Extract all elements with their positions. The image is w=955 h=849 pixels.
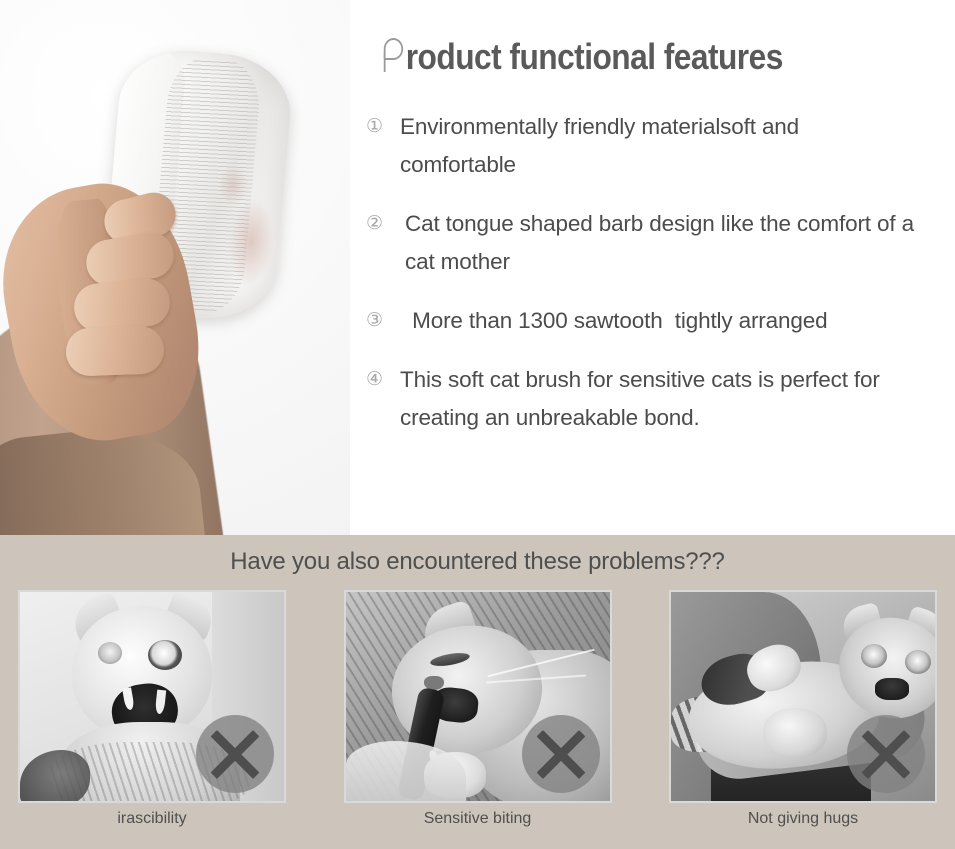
x-mark-icon-2: [522, 715, 600, 793]
problem-card-1: irascibility: [18, 590, 286, 828]
feature-item-2: ② Cat tongue shaped barb design like the…: [360, 205, 955, 281]
feature-list: ① Environmentally friendly materialsoft …: [360, 108, 955, 458]
problem-card-2: Sensitive biting: [344, 590, 612, 828]
problem-caption-3: Not giving hugs: [669, 810, 937, 828]
feature-item-4: ④ This soft cat brush for sensitive cats…: [360, 361, 955, 437]
feature-number-4: ④: [360, 361, 400, 399]
page-title: roduct functional features: [382, 35, 783, 78]
feature-item-1: ① Environmentally friendly materialsoft …: [360, 108, 955, 184]
feature-item-3: ③ More than 1300 sawtooth tightly arrang…: [360, 302, 955, 340]
title-initial-p-icon: [382, 38, 405, 72]
feature-text-2: Cat tongue shaped barb design like the c…: [400, 205, 955, 281]
problem-caption-1: irascibility: [18, 810, 286, 828]
problem-card-grid: irascibility: [18, 590, 937, 828]
feature-text-4: This soft cat brush for sensitive cats i…: [400, 361, 955, 437]
feature-number-1: ①: [360, 108, 400, 146]
feature-text-1: Environmentally friendly materialsoft an…: [400, 108, 955, 184]
page-title-text: roduct functional features: [406, 36, 783, 78]
finger-shape-4: [65, 325, 165, 376]
problem-photo-1: [18, 590, 286, 803]
problems-section: Have you also encountered these problems…: [0, 535, 955, 849]
problem-card-3: Not giving hugs: [669, 590, 937, 828]
feature-text-3: More than 1300 sawtooth tightly arranged: [400, 302, 955, 340]
feature-number-2: ②: [360, 205, 400, 243]
feature-number-3: ③: [360, 302, 400, 340]
product-image: [0, 0, 350, 535]
problem-photo-2: [344, 590, 612, 803]
problems-heading: Have you also encountered these problems…: [0, 548, 955, 576]
product-features-section: roduct functional features ① Environment…: [0, 0, 955, 535]
x-mark-icon-3: [847, 715, 925, 793]
problem-photo-3: [669, 590, 937, 803]
features-content: roduct functional features ① Environment…: [360, 0, 955, 535]
problem-caption-2: Sensitive biting: [344, 810, 612, 828]
x-mark-icon-1: [196, 715, 274, 793]
